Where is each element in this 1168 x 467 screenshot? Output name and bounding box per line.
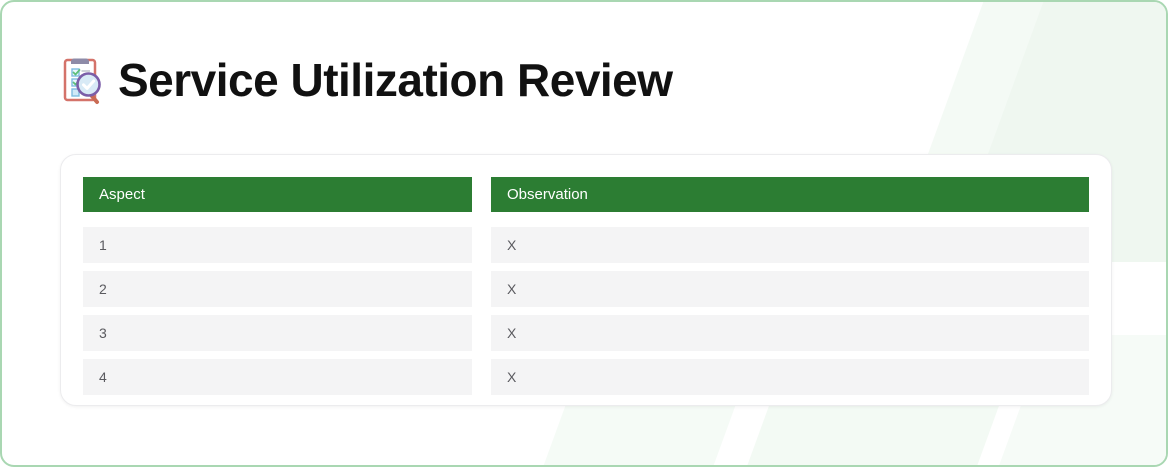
column-header-aspect[interactable]: Aspect [83,177,472,212]
cell-observation: X [491,359,1089,395]
cell-aspect: 3 [83,315,472,351]
cell-aspect: 4 [83,359,472,395]
clipboard-magnifier-icon [60,54,108,106]
table-card: Aspect Observation 1 X 2 X 3 X 4 X [60,154,1112,406]
table-row: 2 X [83,271,1089,307]
page-root: Service Utilization Review Aspect Observ… [0,0,1168,467]
cell-observation: X [491,227,1089,263]
table-row: 4 X [83,359,1089,395]
table-header-row: Aspect Observation [83,177,1089,212]
page-title: Service Utilization Review [118,57,673,103]
cell-aspect: 2 [83,271,472,307]
table-row: 1 X [83,227,1089,263]
cell-observation: X [491,271,1089,307]
column-header-observation[interactable]: Observation [491,177,1089,212]
cell-observation: X [491,315,1089,351]
table-row: 3 X [83,315,1089,351]
data-table: Aspect Observation 1 X 2 X 3 X 4 X [83,177,1089,395]
cell-aspect: 1 [83,227,472,263]
page-header: Service Utilization Review [60,54,673,106]
